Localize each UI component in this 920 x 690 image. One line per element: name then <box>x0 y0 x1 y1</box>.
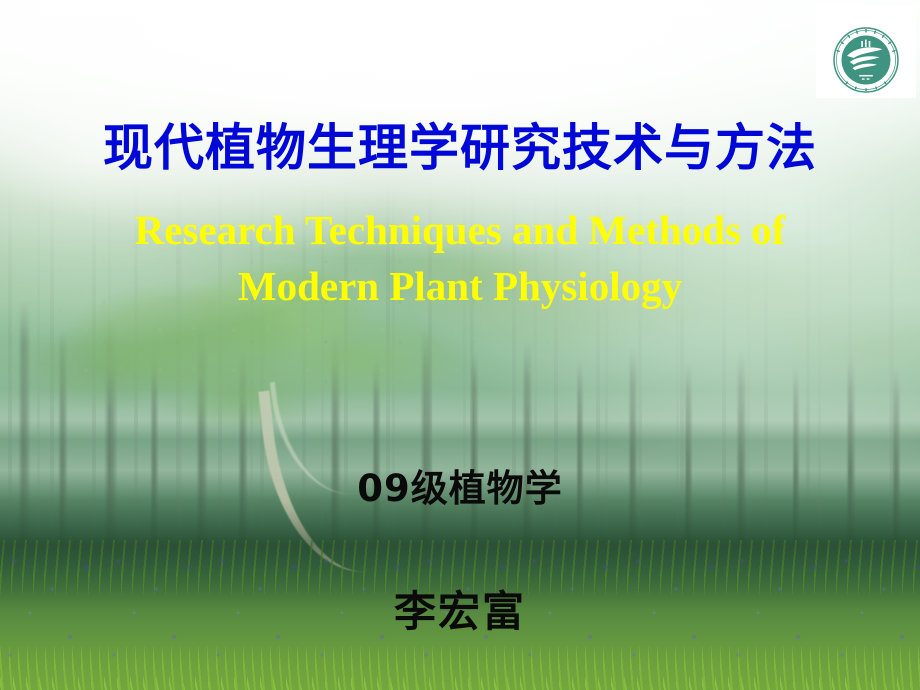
university-seal-icon <box>832 26 900 94</box>
presenter-name: 李宏富 <box>0 578 920 639</box>
class-label: 09级植物学 <box>0 458 920 512</box>
subtitle-line-1: Research Techniques and Methods of <box>0 203 920 259</box>
university-logo <box>816 6 916 98</box>
slide-subtitle-english: Research Techniques and Methods of Moder… <box>0 203 920 315</box>
slide-title-chinese: 现代植物生理学研究技术与方法 <box>0 108 920 180</box>
subtitle-line-2: Modern Plant Physiology <box>0 259 920 315</box>
presentation-title-slide: 现代植物生理学研究技术与方法 Research Techniques and M… <box>0 0 920 690</box>
